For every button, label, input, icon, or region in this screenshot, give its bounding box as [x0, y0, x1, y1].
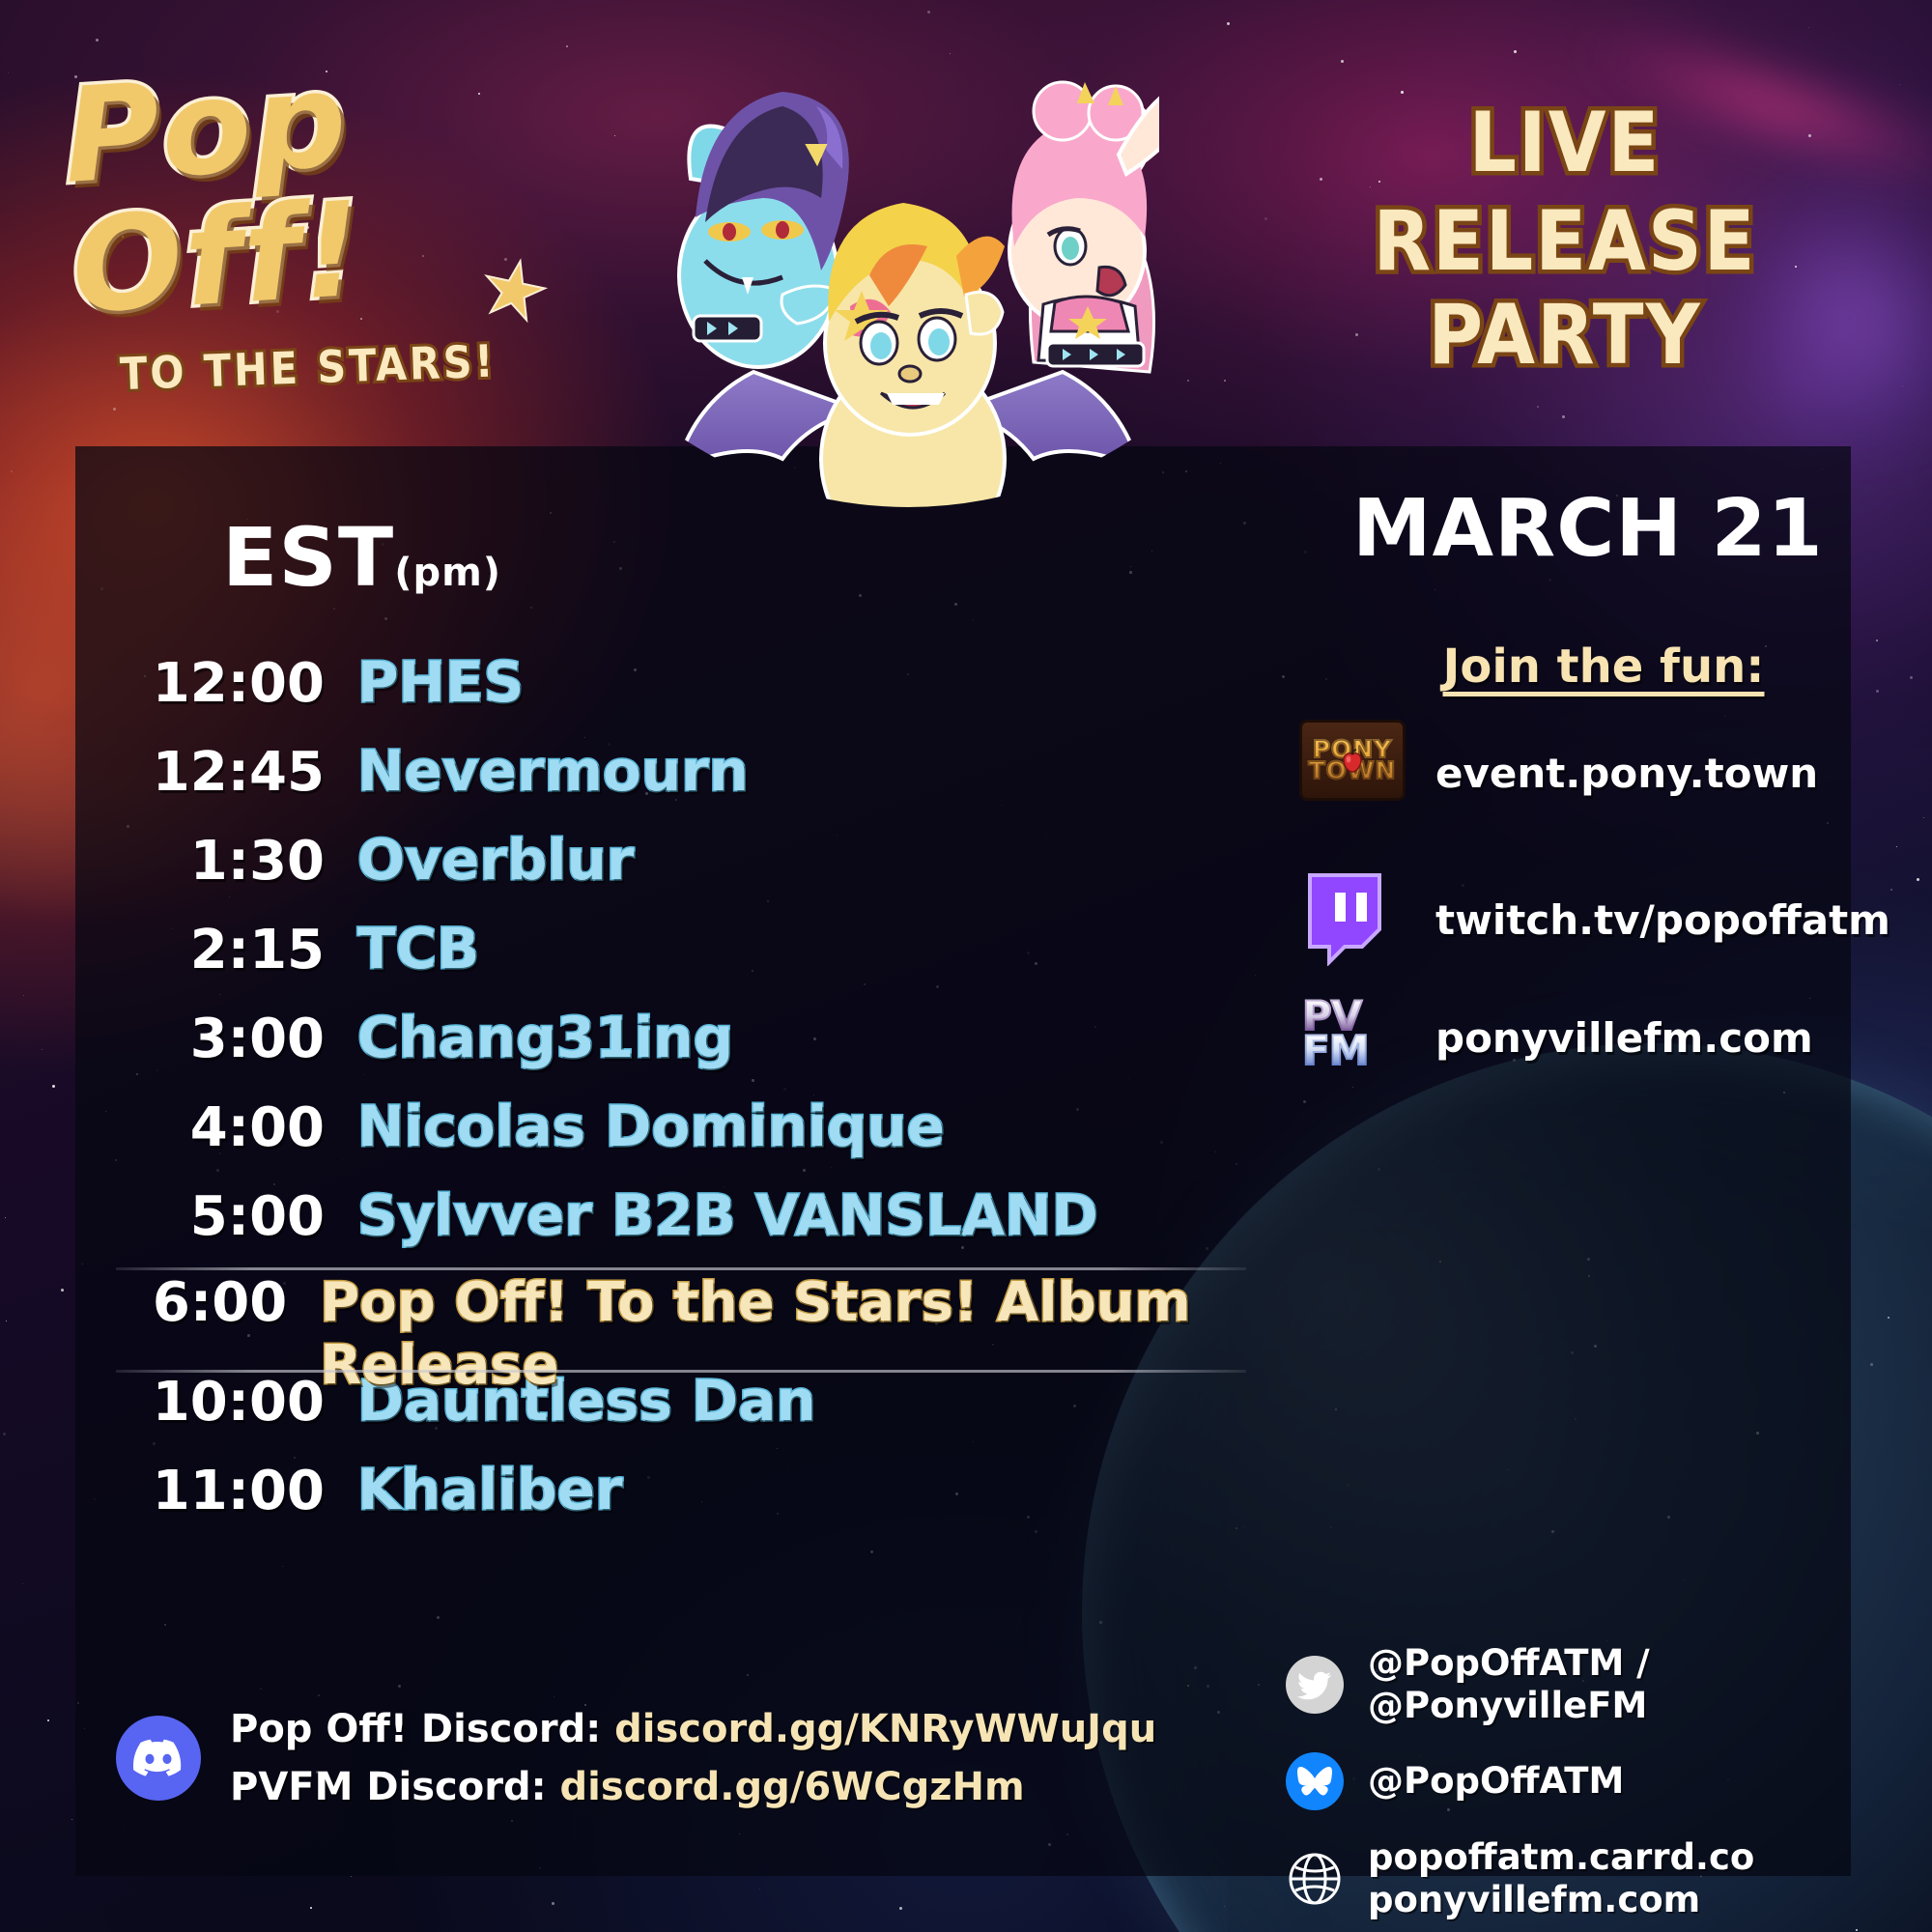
- schedule-row: 12:45Nevermourn: [116, 738, 1246, 827]
- schedule-row: 1:30Overblur: [116, 827, 1246, 916]
- schedule-artist: Chang31ing: [357, 1005, 733, 1070]
- feature-divider-bottom: [116, 1370, 1246, 1373]
- schedule-artist: TCB: [357, 916, 479, 981]
- schedule-row: 5:00Sylvver B2B VANSLAND: [116, 1182, 1246, 1271]
- discord-invite-list: Pop Off! Discord: discord.gg/KNRyWWuJquP…: [230, 1700, 1156, 1816]
- schedule-time: 5:00: [116, 1185, 357, 1248]
- discord-block[interactable]: Pop Off! Discord: discord.gg/KNRyWWuJquP…: [114, 1700, 1156, 1816]
- logo-subtitle: TO THE STARS!: [119, 332, 571, 400]
- schedule-time: 11:00: [116, 1460, 357, 1522]
- pvfm-logo-line-2: FM: [1302, 1034, 1391, 1068]
- event-poster: Pop Off! TO THE STARS! ★: [0, 0, 1932, 1932]
- headline-line-1: LIVE: [1246, 97, 1884, 189]
- twitter-icon: [1285, 1655, 1345, 1715]
- pony-town-icon: PONY TOWN: [1302, 723, 1403, 823]
- apple-icon: [1340, 749, 1365, 774]
- schedule-row: 3:00Chang31ing: [116, 1005, 1246, 1094]
- character-artwork: [638, 53, 1179, 507]
- feature-divider-top: [116, 1267, 1246, 1270]
- discord-invite-row[interactable]: PVFM Discord: discord.gg/6WCgzHm: [230, 1758, 1156, 1816]
- schedule-time: 6:00: [116, 1271, 320, 1334]
- schedule-artist: Sylvver B2B VANSLAND: [357, 1182, 1098, 1248]
- brand-logo: Pop Off! TO THE STARS! ★: [68, 56, 570, 392]
- discord-invite-url[interactable]: discord.gg/KNRyWWuJqu: [614, 1707, 1156, 1751]
- join-the-fun-title: Join the fun:: [1294, 639, 1913, 694]
- discord-invite-label: Pop Off! Discord:: [230, 1707, 601, 1751]
- social-links: @PopOffATM / @PonyvilleFM @PopOffATM pop…: [1285, 1642, 1903, 1932]
- timezone-header: EST(pm): [222, 510, 501, 605]
- link-row-pvfm[interactable]: PV FM ponyvillefm.com: [1302, 987, 1813, 1088]
- discord-icon: [114, 1714, 203, 1803]
- schedule-time: 4:00: [116, 1096, 357, 1159]
- schedule-artist: Nicolas Dominique: [357, 1094, 945, 1159]
- pvfm-link-label[interactable]: ponyvillefm.com: [1435, 1014, 1813, 1062]
- schedule-row: 4:00Nicolas Dominique: [116, 1094, 1246, 1182]
- discord-invite-url[interactable]: discord.gg/6WCgzHm: [560, 1765, 1025, 1809]
- headline: LIVE RELEASE PARTY: [1246, 97, 1884, 382]
- link-row-twitch[interactable]: twitch.tv/popoffatm: [1302, 869, 1890, 970]
- schedule-list: 12:00PHES12:45Nevermourn1:30Overblur2:15…: [116, 649, 1246, 1546]
- schedule-artist: Pop Off! To the Stars! Album Release: [320, 1271, 1246, 1397]
- twitch-icon: [1302, 869, 1403, 970]
- twitch-link-label[interactable]: twitch.tv/popoffatm: [1435, 896, 1890, 944]
- schedule-row: 6:00Pop Off! To the Stars! Album Release: [116, 1271, 1246, 1368]
- schedule-row: 12:00PHES: [116, 649, 1246, 738]
- event-date: MARCH 21: [1352, 483, 1824, 575]
- pvfm-icon: PV FM: [1302, 987, 1403, 1088]
- social-row-bluesky[interactable]: @PopOffATM: [1285, 1751, 1903, 1811]
- discord-invite-row[interactable]: Pop Off! Discord: discord.gg/KNRyWWuJqu: [230, 1700, 1156, 1758]
- schedule-time: 12:00: [116, 652, 357, 715]
- bluesky-handle[interactable]: @PopOffATM: [1368, 1760, 1624, 1803]
- schedule-artist: PHES: [357, 649, 524, 715]
- social-row-websites[interactable]: popoffatm.carrd.co ponyvillefm.com: [1285, 1836, 1903, 1920]
- timezone-period: (pm): [394, 551, 501, 595]
- schedule-artist: Overblur: [357, 827, 634, 893]
- link-row-pony-town[interactable]: PONY TOWN event.pony.town: [1302, 723, 1818, 823]
- schedule-time: 3:00: [116, 1008, 357, 1070]
- twitter-handle[interactable]: @PopOffATM / @PonyvilleFM: [1368, 1642, 1903, 1726]
- bluesky-icon: [1285, 1751, 1345, 1811]
- schedule-row: 11:00Khaliber: [116, 1457, 1246, 1546]
- timezone-label: EST: [222, 510, 394, 605]
- headline-line-2: RELEASE PARTY: [1246, 195, 1884, 382]
- website-ponyvillefm[interactable]: ponyvillefm.com: [1368, 1879, 1754, 1921]
- globe-icon: [1285, 1849, 1345, 1909]
- schedule-artist: Nevermourn: [357, 738, 749, 804]
- schedule-row: 2:15TCB: [116, 916, 1246, 1005]
- website-carrd[interactable]: popoffatm.carrd.co: [1368, 1836, 1754, 1879]
- schedule-time: 12:45: [116, 741, 357, 804]
- discord-invite-label: PVFM Discord:: [230, 1765, 547, 1809]
- schedule-artist: Khaliber: [357, 1457, 623, 1522]
- schedule-time: 2:15: [116, 919, 357, 981]
- social-row-twitter[interactable]: @PopOffATM / @PonyvilleFM: [1285, 1642, 1903, 1726]
- pony-town-link-label[interactable]: event.pony.town: [1435, 750, 1818, 797]
- schedule-time: 1:30: [116, 830, 357, 893]
